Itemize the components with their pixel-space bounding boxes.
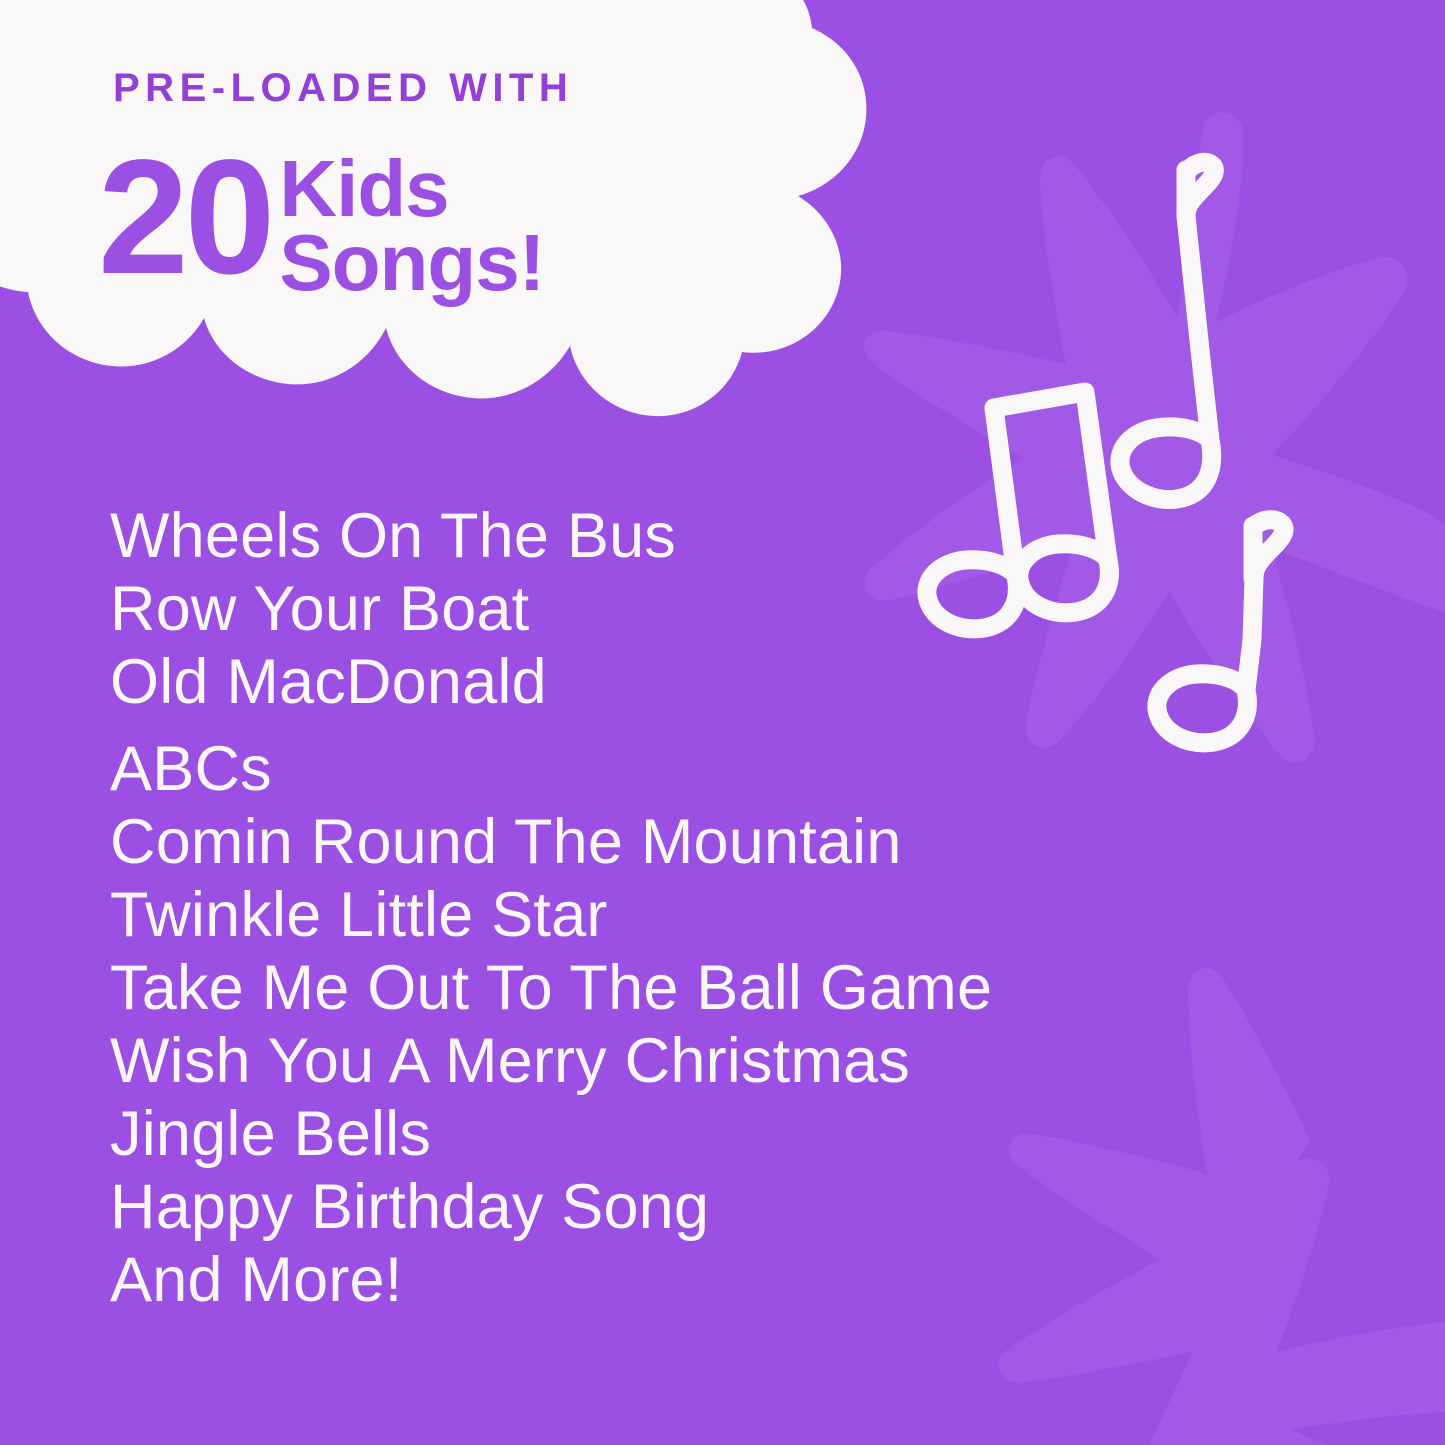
song-list-item: Take Me Out To The Ball Game <box>110 952 1260 1025</box>
kicker-text: PRE-LOADED WITH <box>113 68 573 108</box>
music-note-eighth-top-icon <box>1120 162 1214 499</box>
song-list-item: ABCs <box>110 733 1260 806</box>
count-label-line1: Kids <box>279 152 544 226</box>
count-label-line2: Songs! <box>279 226 544 300</box>
song-list-item: Happy Birthday Song <box>110 1171 1260 1244</box>
song-list-item: And More! <box>110 1244 1260 1317</box>
headline-block: PRE-LOADED WITH 20 Kids Songs! <box>0 0 860 430</box>
song-list-item: Comin Round The Mountain <box>110 806 1260 879</box>
count-row: 20 Kids Songs! <box>98 140 544 299</box>
song-count: 20 <box>98 140 271 295</box>
count-label: Kids Songs! <box>279 152 544 299</box>
song-list-item: Jingle Bells <box>110 1098 1260 1171</box>
song-list-item: Wish You A Merry Christmas <box>110 1025 1260 1098</box>
song-list: Wheels On The BusRow Your BoatOld MacDon… <box>110 500 1260 1317</box>
promo-card: PRE-LOADED WITH 20 Kids Songs! Wheels On… <box>0 0 1445 1445</box>
song-list-item: Row Your Boat <box>110 573 1260 646</box>
song-list-item: Old MacDonald <box>110 646 1260 719</box>
song-list-item: Wheels On The Bus <box>110 500 1260 573</box>
song-list-item: Twinkle Little Star <box>110 879 1260 952</box>
